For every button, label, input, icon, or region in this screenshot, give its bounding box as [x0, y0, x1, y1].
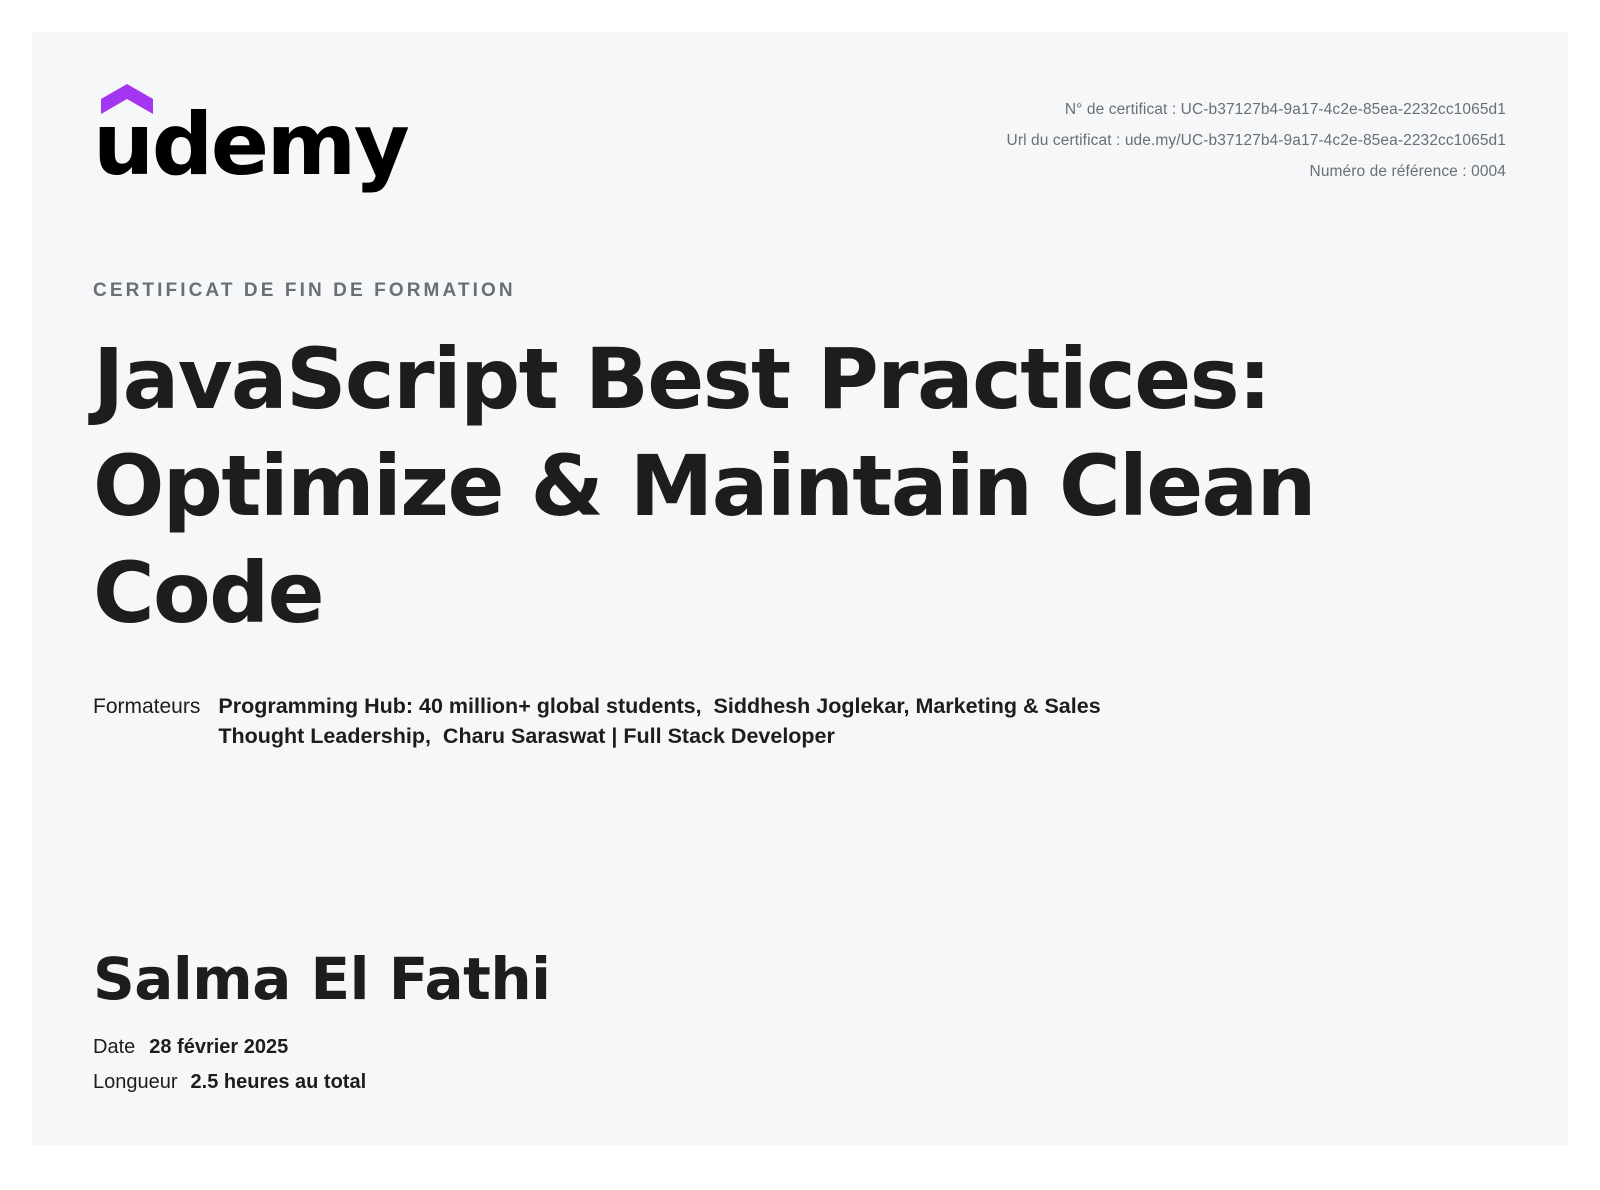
certificate-reference-number: Numéro de référence : 0004 — [1007, 156, 1506, 187]
udemy-logo: udemy — [93, 84, 353, 189]
length-label: Longueur — [93, 1068, 178, 1096]
instructors-label: Formateurs — [93, 691, 200, 722]
certificate-meta: N° de certificat : UC-b37127b4-9a17-4c2e… — [1007, 94, 1506, 187]
date-row: Date 28 février 2025 — [93, 1033, 551, 1061]
length-value: 2.5 heures au total — [191, 1068, 367, 1096]
certificate-footer: Salma El Fathi Date 28 février 2025 Long… — [93, 947, 551, 1096]
udemy-wordmark: udemy — [93, 102, 407, 188]
certificate-page: udemy N° de certificat : UC-b37127b4-9a1… — [32, 32, 1568, 1145]
certificate-kicker: CERTIFICAT DE FIN DE FORMATION — [93, 280, 1507, 302]
student-name: Salma El Fathi — [93, 947, 551, 1011]
instructors-names: Programming Hub: 40 million+ global stud… — [218, 691, 1100, 751]
certificate-body: CERTIFICAT DE FIN DE FORMATION JavaScrip… — [93, 280, 1507, 751]
instructors-block: Formateurs Programming Hub: 40 million+ … — [93, 691, 1507, 751]
certificate-url: Url du certificat : ude.my/UC-b37127b4-9… — [1007, 125, 1506, 156]
certificate-number: N° de certificat : UC-b37127b4-9a17-4c2e… — [1007, 94, 1506, 125]
course-title: JavaScript Best Practices: Optimize & Ma… — [93, 326, 1403, 647]
length-row: Longueur 2.5 heures au total — [93, 1068, 551, 1096]
date-value: 28 février 2025 — [149, 1033, 288, 1061]
instructors-line-1: Programming Hub: 40 million+ global stud… — [218, 691, 1100, 721]
certificate-header: udemy N° de certificat : UC-b37127b4-9a1… — [32, 32, 1568, 202]
instructors-line-2: Thought Leadership, Charu Saraswat | Ful… — [218, 721, 1100, 751]
date-label: Date — [93, 1033, 135, 1061]
